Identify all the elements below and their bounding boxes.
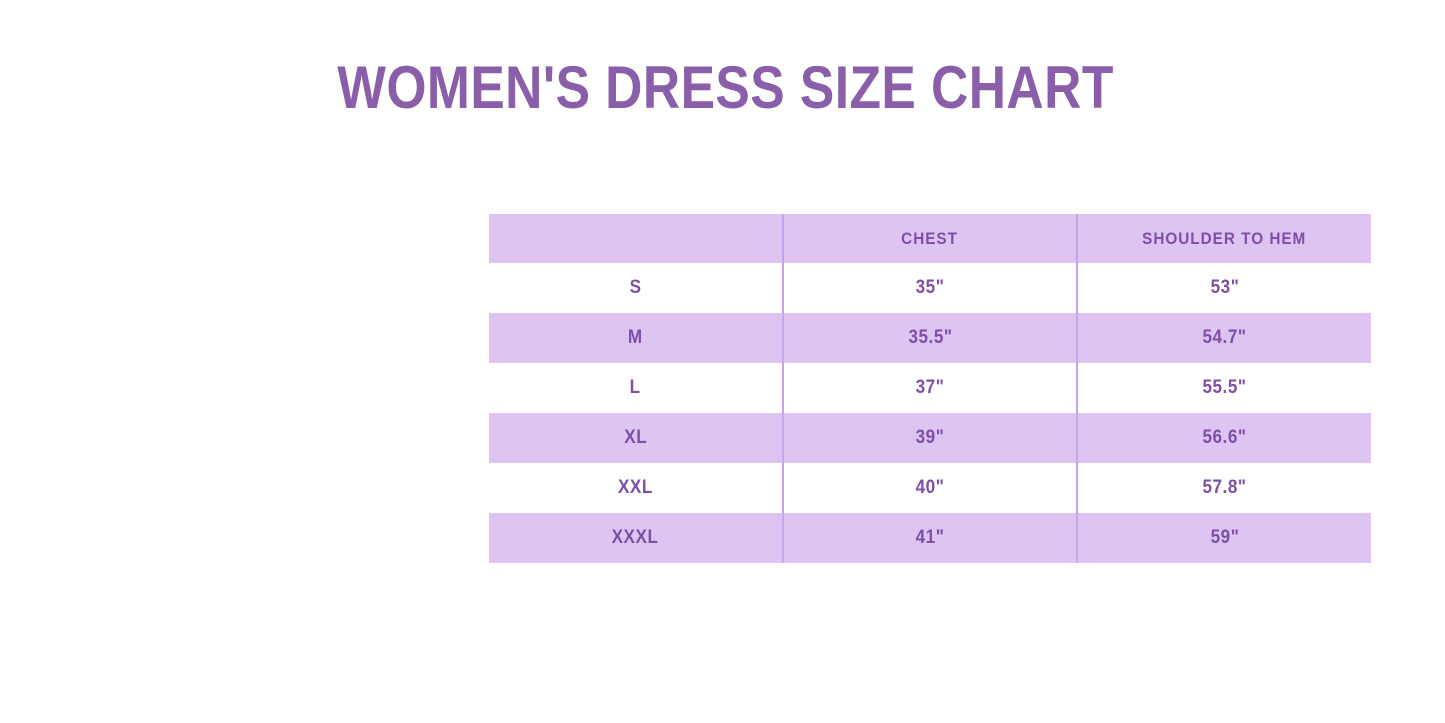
cell-shoulder-to-hem: 53" — [1077, 263, 1371, 313]
cell-size: S — [489, 263, 783, 313]
cell-chest-value: 39" — [916, 427, 945, 449]
cell-size: M — [489, 313, 783, 363]
column-header-chest-label: CHEST — [902, 229, 959, 249]
cell-size: XL — [489, 413, 783, 463]
cell-shoulder-to-hem: 55.5" — [1077, 363, 1371, 413]
cell-chest-value: 41" — [916, 527, 945, 549]
size-chart-table-container: CHEST SHOULDER TO HEM S 35" 53" M 35.5" … — [489, 214, 1371, 563]
size-chart-table: CHEST SHOULDER TO HEM S 35" 53" M 35.5" … — [489, 214, 1371, 563]
cell-chest: 35.5" — [783, 313, 1077, 363]
column-header-size — [489, 214, 783, 263]
table-row: XXXL 41" 59" — [489, 513, 1371, 563]
cell-size: XXL — [489, 463, 783, 513]
cell-chest-value: 37" — [916, 377, 945, 399]
cell-size-value: XXL — [618, 477, 653, 499]
cell-shoulder-to-hem: 56.6" — [1077, 413, 1371, 463]
cell-shoulder-to-hem-value: 54.7" — [1202, 327, 1246, 349]
cell-shoulder-to-hem-value: 56.6" — [1202, 427, 1246, 449]
cell-chest: 40" — [783, 463, 1077, 513]
cell-shoulder-to-hem: 57.8" — [1077, 463, 1371, 513]
cell-size-value: M — [628, 327, 643, 349]
table-row: M 35.5" 54.7" — [489, 313, 1371, 363]
page-title: WOMEN'S DRESS SIZE CHART — [104, 52, 1347, 124]
cell-chest: 41" — [783, 513, 1077, 563]
cell-chest-value: 35" — [916, 277, 945, 299]
table-header: CHEST SHOULDER TO HEM — [489, 214, 1371, 263]
table-header-row: CHEST SHOULDER TO HEM — [489, 214, 1371, 263]
cell-shoulder-to-hem-value: 53" — [1210, 277, 1239, 299]
cell-size-value: L — [630, 377, 641, 399]
cell-shoulder-to-hem-value: 59" — [1210, 527, 1239, 549]
cell-chest-value: 35.5" — [908, 327, 952, 349]
column-header-shoulder-to-hem-label: SHOULDER TO HEM — [1142, 229, 1306, 249]
column-header-shoulder-to-hem: SHOULDER TO HEM — [1077, 214, 1371, 263]
cell-shoulder-to-hem-value: 57.8" — [1202, 477, 1246, 499]
cell-size: XXXL — [489, 513, 783, 563]
table-row: XXL 40" 57.8" — [489, 463, 1371, 513]
table-row: S 35" 53" — [489, 263, 1371, 313]
cell-chest: 39" — [783, 413, 1077, 463]
cell-chest-value: 40" — [916, 477, 945, 499]
cell-size-value: XL — [624, 427, 647, 449]
size-chart-page: WOMEN'S DRESS SIZE CHART CHEST SHOULDER … — [0, 0, 1445, 723]
column-header-chest: CHEST — [783, 214, 1077, 263]
cell-shoulder-to-hem: 54.7" — [1077, 313, 1371, 363]
cell-shoulder-to-hem-value: 55.5" — [1202, 377, 1246, 399]
cell-chest: 37" — [783, 363, 1077, 413]
cell-shoulder-to-hem: 59" — [1077, 513, 1371, 563]
table-row: L 37" 55.5" — [489, 363, 1371, 413]
cell-size-value: XXXL — [612, 527, 659, 549]
cell-size-value: S — [630, 277, 642, 299]
table-body: S 35" 53" M 35.5" 54.7" L 37" 55.5" XL 3… — [489, 263, 1371, 563]
cell-chest: 35" — [783, 263, 1077, 313]
cell-size: L — [489, 363, 783, 413]
table-row: XL 39" 56.6" — [489, 413, 1371, 463]
